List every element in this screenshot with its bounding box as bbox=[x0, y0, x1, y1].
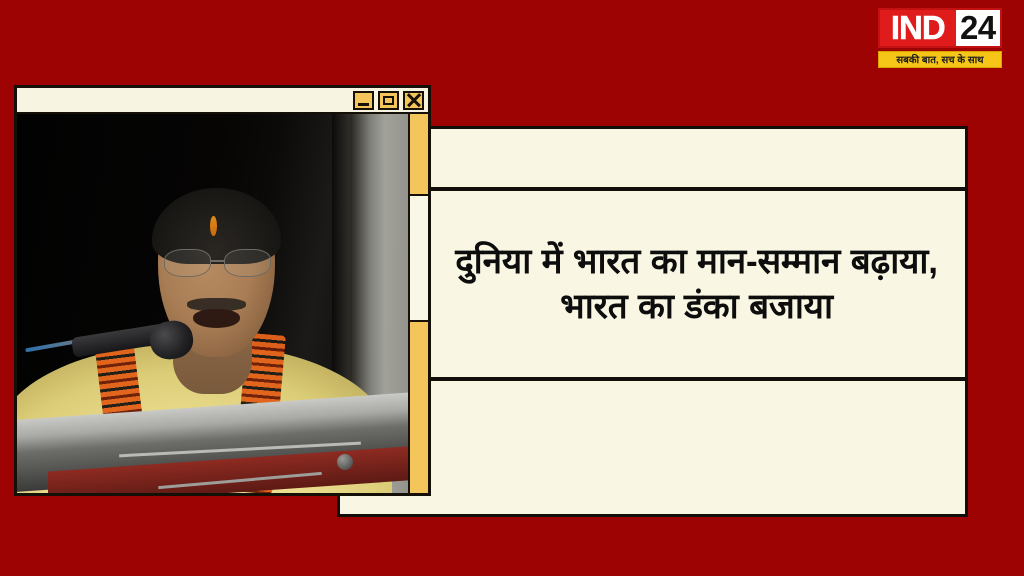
glasses-lens-left bbox=[164, 249, 211, 277]
channel-logo-ind: IND bbox=[880, 10, 956, 46]
channel-logo-24: 24 bbox=[956, 10, 1000, 46]
photo-window-body bbox=[17, 114, 428, 493]
headline-text: दुनिया में भारत का मान-सम्मान बढ़ाया, भा… bbox=[340, 239, 965, 330]
headline-panel-bottom-strip bbox=[340, 381, 965, 510]
glasses-lens-right bbox=[224, 249, 271, 277]
photo-window[interactable] bbox=[14, 85, 431, 496]
channel-logo: IND 24 सबकी बात, सच के साथ bbox=[878, 8, 1002, 70]
scrollbar-track-bottom[interactable] bbox=[410, 322, 428, 493]
photo-window-scrollbar[interactable] bbox=[408, 114, 428, 493]
close-icon[interactable] bbox=[403, 91, 424, 110]
photo-window-titlebar[interactable] bbox=[17, 88, 428, 114]
speaker-tilak bbox=[210, 216, 217, 236]
channel-logo-tagline: सबकी बात, सच के साथ bbox=[878, 51, 1002, 68]
headline-row: दुनिया में भारत का मान-सम्मान बढ़ाया, भा… bbox=[340, 191, 965, 381]
headline-panel-top-strip bbox=[340, 129, 965, 191]
scrollbar-track-top[interactable] bbox=[410, 114, 428, 194]
speaker-mouth bbox=[193, 309, 240, 328]
headline-panel: दुनिया में भारत का मान-सम्मान बढ़ाया, भा… bbox=[337, 126, 968, 517]
glasses-bridge bbox=[210, 260, 225, 262]
scrollbar-thumb[interactable] bbox=[410, 194, 428, 322]
channel-logo-main: IND 24 bbox=[878, 8, 1002, 48]
speaker-photo bbox=[17, 114, 408, 493]
speaker-glasses bbox=[164, 249, 272, 277]
maximize-icon[interactable] bbox=[378, 91, 399, 110]
broadcast-news-lower-third: { "background_color": "#9d0303", "logo":… bbox=[0, 0, 1024, 576]
minimize-icon[interactable] bbox=[353, 91, 374, 110]
